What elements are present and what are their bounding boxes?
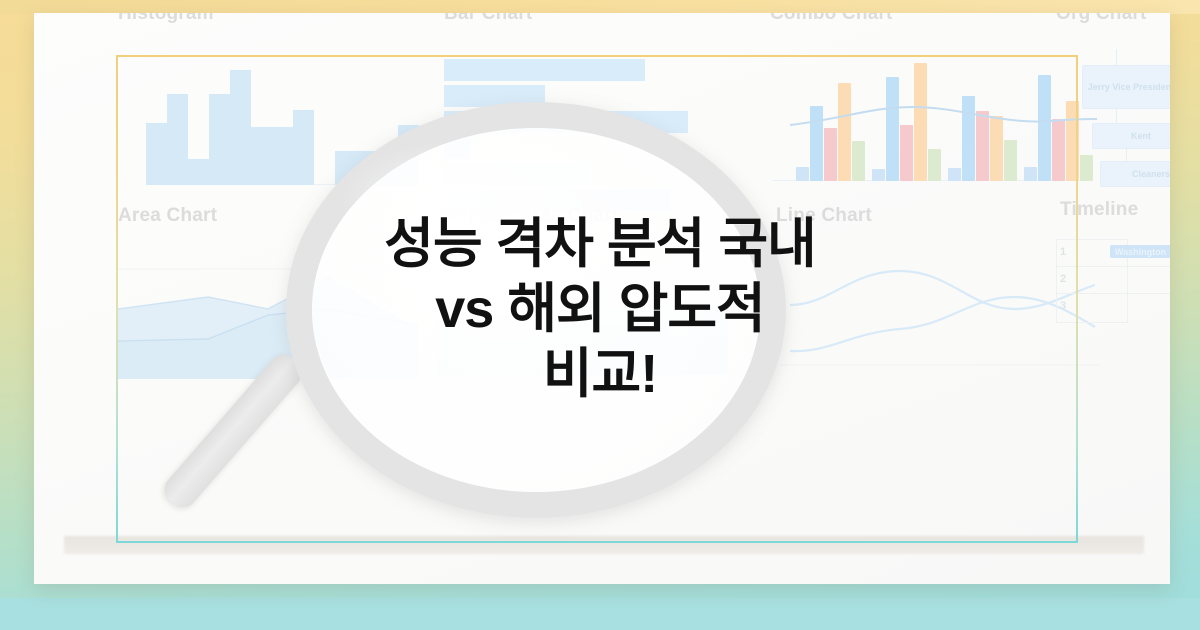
- poster-canvas: Histogram Bar Chart: [0, 0, 1200, 630]
- chart-title-histogram: Histogram: [118, 13, 214, 25]
- bar-chart-bar: [444, 163, 588, 185]
- histogram-bar: [146, 123, 167, 185]
- panel-histogram: [146, 65, 406, 185]
- histogram-bar: [167, 94, 188, 185]
- combo-trend-line: [772, 63, 1102, 181]
- histogram-bar: [209, 94, 230, 185]
- bar-chart-bar: [444, 111, 688, 133]
- org-connector: [1116, 107, 1117, 123]
- org-node: Cleaners: [1100, 161, 1170, 187]
- histogram-bar: [377, 151, 398, 185]
- chart-title-org-chart: Org Chart: [1056, 13, 1146, 25]
- histogram-bar: [188, 159, 209, 185]
- histogram-bar: [230, 70, 251, 185]
- org-connector: [1126, 147, 1127, 161]
- frame-top-band: [0, 0, 1200, 14]
- frame-bottom-band: [0, 598, 1200, 630]
- histogram-bar: [293, 110, 314, 185]
- chart-title-bar-chart: Bar Chart: [444, 13, 532, 25]
- histogram-bar: [356, 151, 377, 185]
- histogram-bar: [335, 151, 356, 185]
- histogram-bar: [272, 127, 293, 185]
- bar-chart-bar: [444, 137, 470, 159]
- histogram-bar: [398, 125, 419, 185]
- card-bottom-shadow: [64, 536, 1144, 554]
- bar-chart-bar: [444, 85, 545, 107]
- org-connector: [1116, 49, 1117, 65]
- chart-title-combo-chart: Combo Chart: [770, 13, 893, 25]
- org-node: Kent: [1092, 123, 1170, 149]
- bar-chart-bar: [444, 59, 645, 81]
- histogram-bar: [251, 127, 272, 185]
- panel-combo-chart: [772, 63, 1072, 181]
- panel-org-chart: Jerry Vice President Kent Cleaners: [1060, 49, 1170, 189]
- panel-bar-chart: [444, 59, 734, 179]
- org-node: Jerry Vice President: [1082, 65, 1170, 109]
- page-title: 성능 격차 분석 국내 vs 해외 압도적 비교!: [0, 212, 1200, 406]
